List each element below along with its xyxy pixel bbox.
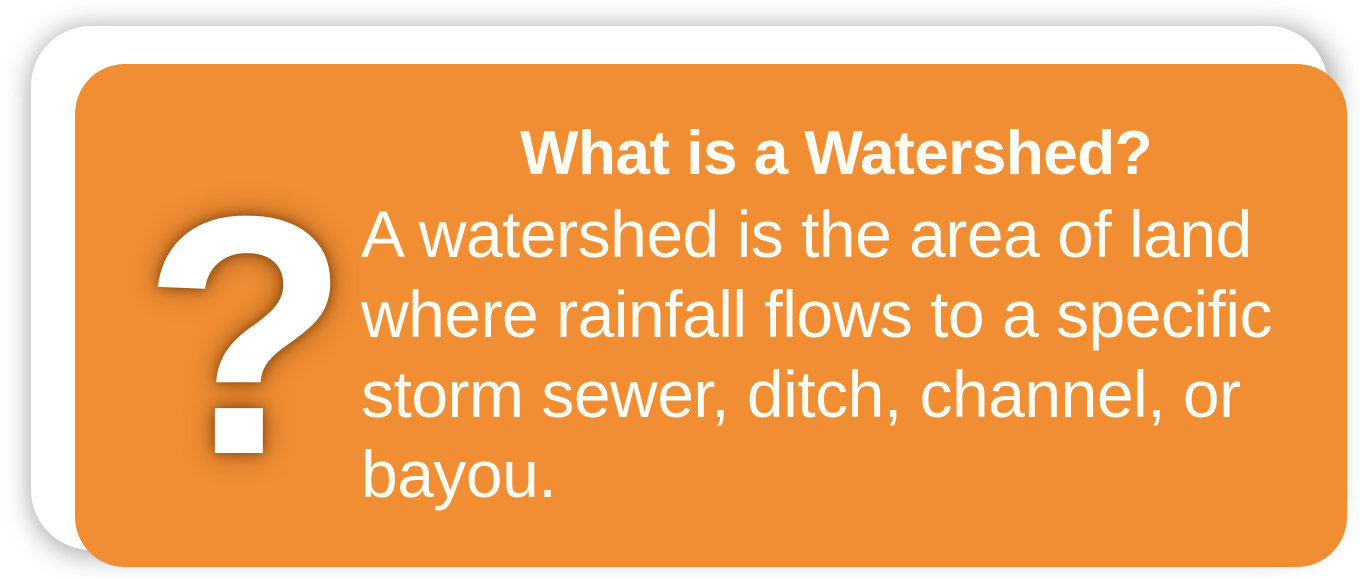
body-line: where rainfall flows to a specific [361, 274, 1311, 354]
info-card-stage: ? What is a Watershed? A watershed is th… [0, 0, 1360, 579]
card-body-text: A watershed is the area of land where ra… [361, 194, 1311, 514]
info-card: ? What is a Watershed? A watershed is th… [75, 64, 1347, 567]
question-mark-icon: ? [121, 176, 371, 496]
body-line: A watershed is the area of land [361, 194, 1311, 274]
body-line: bayou. [361, 434, 1311, 514]
card-text-column: What is a Watershed? A watershed is the … [361, 114, 1311, 514]
card-white-frame: ? What is a Watershed? A watershed is th… [31, 26, 1328, 550]
body-line: storm sewer, ditch, channel, or [361, 354, 1311, 434]
card-title: What is a Watershed? [361, 114, 1311, 194]
